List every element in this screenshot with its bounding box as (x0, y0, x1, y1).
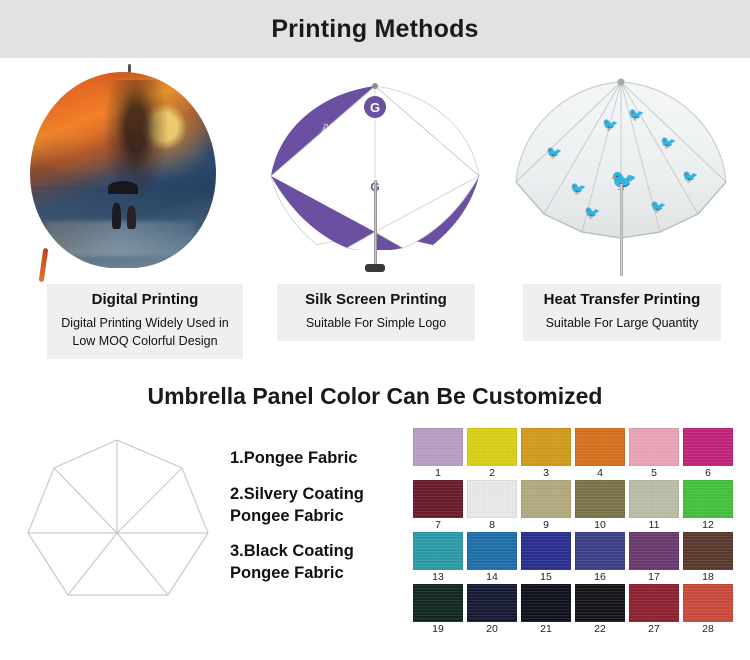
color-swatch[interactable]: 16 (575, 532, 629, 584)
page-root: Printing Methods Digital Printing Digita (0, 0, 750, 660)
color-swatch[interactable]: 1 (413, 428, 467, 480)
painting-figure-1 (112, 203, 121, 229)
color-swatch[interactable]: 19 (413, 584, 467, 636)
section-title-panel-color: Umbrella Panel Color Can Be Customized (0, 383, 750, 410)
color-swatch-grid: 123456789101112131415161718192021222728 (413, 428, 737, 636)
swatch-number-label: 18 (683, 570, 733, 584)
swatch-number-label: 8 (467, 518, 517, 532)
swatch-number-label: 12 (683, 518, 733, 532)
page-title: Printing Methods (271, 15, 478, 44)
color-swatch[interactable]: 10 (575, 480, 629, 532)
umbrella-image-silk-screen-printing: G G Adventures G Adventures G G Adventur… (260, 58, 490, 286)
caption-subtitle: Digital Printing Widely Used in Low MOQ … (51, 314, 239, 350)
fabric-option-3: 3.Black Coating Pongee Fabric (230, 541, 400, 585)
swatch-color-chip[interactable] (575, 428, 625, 466)
bird-icon: 🐦 (660, 136, 676, 149)
swatch-number-label: 16 (575, 570, 625, 584)
umbrella-image-digital-printing (14, 58, 244, 286)
swatch-color-chip[interactable] (521, 480, 571, 518)
fabric-option-2: 2.Silvery Coating Pongee Fabric (230, 484, 400, 528)
swatch-color-chip[interactable] (467, 584, 517, 622)
color-swatch[interactable]: 17 (629, 532, 683, 584)
caption-silk-screen-printing: Silk Screen Printing Suitable For Simple… (277, 284, 475, 341)
bird-icon: 🐦 (650, 200, 666, 213)
color-swatch[interactable]: 2 (467, 428, 521, 480)
color-swatch[interactable]: 4 (575, 428, 629, 480)
method-card-digital-printing: Digital Printing Digital Printing Widely… (14, 58, 244, 286)
swatch-color-chip[interactable] (575, 584, 625, 622)
swatch-color-chip[interactable] (629, 584, 679, 622)
color-swatch[interactable]: 14 (467, 532, 521, 584)
painting-figure-2 (127, 206, 136, 229)
swatch-color-chip[interactable] (683, 584, 733, 622)
color-swatch[interactable]: 18 (683, 532, 737, 584)
swatch-number-label: 17 (629, 570, 679, 584)
caption-heat-transfer-printing: Heat Transfer Printing Suitable For Larg… (523, 284, 721, 341)
swatch-color-chip[interactable] (467, 428, 517, 466)
swatch-number-label: 4 (575, 466, 625, 480)
swatch-number-label: 1 (413, 466, 463, 480)
swatch-color-chip[interactable] (683, 532, 733, 570)
swatch-color-chip[interactable] (683, 428, 733, 466)
swatch-number-label: 28 (683, 622, 733, 636)
color-swatch[interactable]: 27 (629, 584, 683, 636)
swatch-number-label: 27 (629, 622, 679, 636)
swatch-number-label: 15 (521, 570, 571, 584)
color-swatch[interactable]: 9 (521, 480, 575, 532)
swatch-number-label: 11 (629, 518, 679, 532)
color-swatch[interactable]: 11 (629, 480, 683, 532)
bird-icon: 🐦 (628, 108, 644, 121)
swatch-number-label: 7 (413, 518, 463, 532)
page-banner: Printing Methods (0, 0, 750, 58)
umbrella-shaft (374, 180, 377, 268)
swatch-number-label: 14 (467, 570, 517, 584)
color-swatch[interactable]: 8 (467, 480, 521, 532)
color-swatch[interactable]: 13 (413, 532, 467, 584)
swatch-color-chip[interactable] (413, 428, 463, 466)
bird-icon: 🐦 (584, 206, 600, 219)
fabric-options-list: 1.Pongee Fabric 2.Silvery Coating Pongee… (230, 448, 400, 599)
fabric-option-1: 1.Pongee Fabric (230, 448, 400, 470)
swatch-number-label: 20 (467, 622, 517, 636)
swatch-number-label: 9 (521, 518, 571, 532)
swatch-color-chip[interactable] (413, 532, 463, 570)
swatch-color-chip[interactable] (629, 428, 679, 466)
bird-icon: 🐦 (682, 170, 698, 183)
swatch-color-chip[interactable] (413, 584, 463, 622)
swatch-color-chip[interactable] (521, 428, 571, 466)
swatch-color-chip[interactable] (413, 480, 463, 518)
bird-icon: 🐦 (602, 118, 618, 131)
swatch-number-label: 13 (413, 570, 463, 584)
painting-small-umbrella (108, 181, 138, 194)
swatch-color-chip[interactable] (521, 532, 571, 570)
color-swatch[interactable]: 28 (683, 584, 737, 636)
swatch-number-label: 3 (521, 466, 571, 480)
umbrella-shaft (620, 184, 623, 276)
caption-digital-printing: Digital Printing Digital Printing Widely… (47, 284, 243, 359)
swatch-color-chip[interactable] (629, 532, 679, 570)
color-swatch[interactable]: 21 (521, 584, 575, 636)
umbrella-handle (365, 264, 385, 272)
bird-icon: 🐦 (570, 182, 586, 195)
color-swatch[interactable]: 15 (521, 532, 575, 584)
umbrella-canopy-oil-painting (30, 72, 216, 268)
caption-title: Heat Transfer Printing (527, 291, 717, 310)
swatch-color-chip[interactable] (521, 584, 571, 622)
swatch-number-label: 21 (521, 622, 571, 636)
bird-icon-large: 🐦 (610, 170, 637, 192)
swatch-number-label: 5 (629, 466, 679, 480)
color-swatch[interactable]: 12 (683, 480, 737, 532)
color-swatch[interactable]: 3 (521, 428, 575, 480)
printing-methods-section: Digital Printing Digital Printing Widely… (0, 58, 750, 363)
caption-title: Digital Printing (51, 291, 239, 310)
method-card-heat-transfer-printing: 🐦 🐦 🐦 🐦 🐦 🐦 🐦 🐦 🐦 Heat Transfer Printing… (506, 58, 736, 286)
swatch-color-chip[interactable] (575, 532, 625, 570)
umbrella-top-logo: G (364, 96, 386, 118)
umbrella-panel-diagram (22, 430, 212, 620)
swatch-color-chip[interactable] (683, 480, 733, 518)
color-swatch[interactable]: 7 (413, 480, 467, 532)
swatch-color-chip[interactable] (629, 480, 679, 518)
color-swatch[interactable]: 6 (683, 428, 737, 480)
swatch-color-chip[interactable] (467, 480, 517, 518)
bird-icon: 🐦 (546, 146, 562, 159)
swatch-color-chip[interactable] (575, 480, 625, 518)
umbrella-image-heat-transfer-printing: 🐦 🐦 🐦 🐦 🐦 🐦 🐦 🐦 🐦 (506, 58, 736, 286)
caption-title: Silk Screen Printing (281, 291, 471, 310)
color-swatch[interactable]: 5 (629, 428, 683, 480)
swatch-number-label: 10 (575, 518, 625, 532)
swatch-number-label: 2 (467, 466, 517, 480)
color-swatch[interactable]: 20 (467, 584, 521, 636)
color-swatch[interactable]: 22 (575, 584, 629, 636)
swatch-color-chip[interactable] (467, 532, 517, 570)
caption-subtitle: Suitable For Large Quantity (527, 314, 717, 332)
method-card-silk-screen-printing: G G Adventures G Adventures G G Adventur… (260, 58, 490, 286)
swatch-number-label: 19 (413, 622, 463, 636)
swatch-number-label: 6 (683, 466, 733, 480)
caption-subtitle: Suitable For Simple Logo (281, 314, 471, 332)
swatch-number-label: 22 (575, 622, 625, 636)
